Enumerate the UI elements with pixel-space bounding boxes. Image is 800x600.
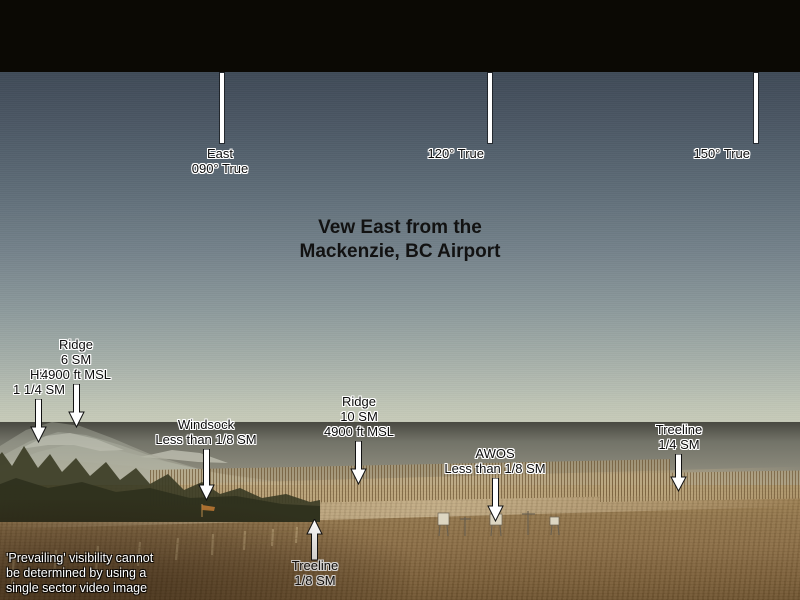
bearing-tick-east	[220, 73, 224, 143]
annotation-label-treeline-eighth: Treeline 1/8 SM	[260, 558, 370, 588]
letterbox-bar-top	[0, 0, 800, 72]
annotation-label-treeline-quarter: Treeline 1/4 SM	[624, 422, 734, 452]
annotation-label-windsock: Windsock Less than 1/8 SM	[136, 417, 276, 447]
annotation-label-awos: AWOS Less than 1/8 SM	[425, 446, 565, 476]
annotation-arrow-ridge-10sm	[350, 441, 367, 485]
weather-camera-image: East 090° True 120° True 150° True Vew E…	[0, 0, 800, 600]
bearing-label-east: East 090° True	[162, 146, 278, 176]
bearing-label-120: 120° True	[390, 146, 484, 161]
annotation-label-ridge-10sm: Ridge 10 SM 4900 ft MSL	[304, 394, 414, 439]
bearing-label-150: 150° True	[656, 146, 750, 161]
windsock-icon	[198, 500, 220, 518]
page-title: Vew East from the Mackenzie, BC Airport	[0, 216, 800, 264]
awos-instrument-cluster	[430, 505, 590, 540]
annotation-arrow-treeline-quarter	[670, 454, 687, 492]
annotation-arrow-ridge-6sm	[68, 384, 85, 428]
annotation-arrow-windsock	[198, 449, 215, 501]
annotation-arrow-awos	[487, 478, 504, 522]
bearing-tick-150	[754, 73, 758, 143]
bearing-tick-120	[488, 73, 492, 143]
visibility-disclaimer: 'Prevailing' visibility cannot be determ…	[6, 551, 153, 596]
annotation-arrow-hill	[30, 399, 47, 443]
annotation-arrow-treeline-eighth	[306, 519, 323, 561]
annotation-label-ridge-6sm: Ridge 6 SM 4900 ft MSL	[22, 337, 130, 382]
